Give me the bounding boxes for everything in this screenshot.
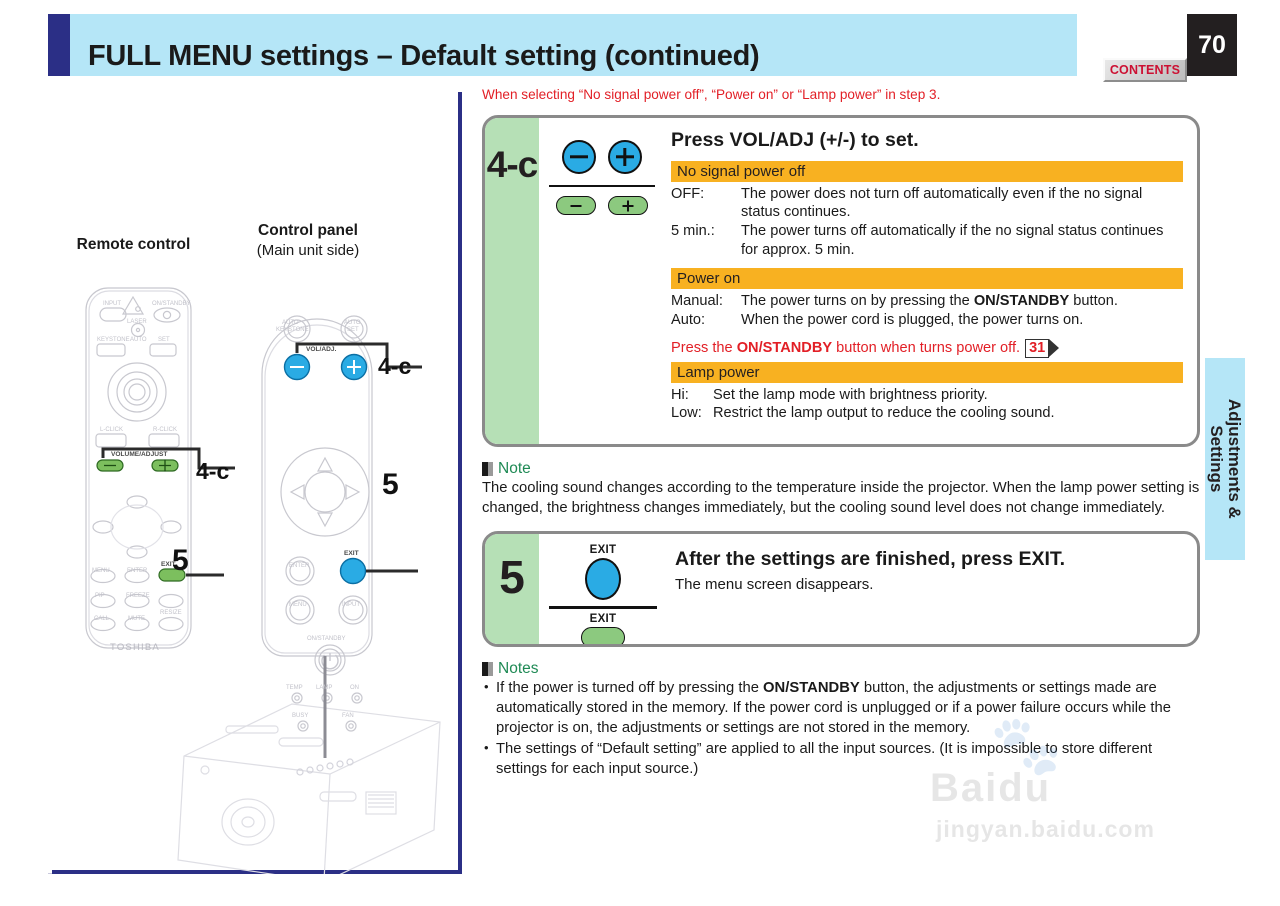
term: Low: bbox=[671, 404, 713, 423]
definition-row: OFF: The power does not turn off automat… bbox=[671, 185, 1183, 222]
power-off-reference-line: Press the ON/STANDBY button when turns p… bbox=[671, 339, 1183, 358]
panel-bottom-rule bbox=[52, 870, 462, 874]
page-number-box: 70 bbox=[1187, 14, 1237, 76]
list-item: The settings of “Default setting” are ap… bbox=[482, 740, 1202, 779]
step-4c-key-graphics bbox=[547, 140, 657, 216]
note-text: The cooling sound changes according to t… bbox=[482, 479, 1202, 518]
note-block-1: Note The cooling sound changes according… bbox=[482, 460, 1202, 518]
exit-pill-icon[interactable] bbox=[581, 627, 625, 648]
term: Auto: bbox=[671, 311, 741, 330]
description: The power turns off automatically if the… bbox=[741, 222, 1183, 259]
intro-text: When selecting “No signal power off”, “P… bbox=[482, 86, 1202, 104]
no-signal-power-off-definitions: OFF: The power does not turn off automat… bbox=[671, 185, 1183, 260]
note-heading: Note bbox=[482, 460, 1202, 478]
section-tab-adjustments-settings: Adjustments & Settings bbox=[1205, 358, 1245, 560]
section-tab-line2: Settings bbox=[1207, 425, 1226, 492]
list-item: If the power is turned off by pressing t… bbox=[482, 679, 1202, 738]
section-tab-label: Adjustments & Settings bbox=[1207, 399, 1243, 519]
section-header-no-signal-power-off: No signal power off bbox=[671, 161, 1183, 182]
term: 5 min.: bbox=[671, 222, 741, 259]
definition-row: 5 min.: The power turns off automaticall… bbox=[671, 222, 1183, 259]
callout-remote-exit: 5 bbox=[172, 544, 189, 578]
step-5-key-graphics: EXIT EXIT bbox=[547, 544, 659, 647]
key-divider bbox=[549, 185, 655, 188]
notes-heading: Notes bbox=[482, 660, 1202, 678]
step-5-box: 5 EXIT EXIT After the settings are finis… bbox=[482, 531, 1200, 647]
step-4c-heading: Press VOL/ADJ (+/-) to set. bbox=[671, 129, 1183, 152]
header-accent-block bbox=[48, 14, 70, 76]
definition-row: Auto: When the power cord is plugged, th… bbox=[671, 311, 1183, 330]
callout-panel-exit: 5 bbox=[382, 468, 399, 502]
notes-flag-icon bbox=[482, 662, 493, 676]
vol-minus-circle-icon[interactable] bbox=[562, 140, 596, 174]
page-reference-arrow-icon bbox=[1049, 339, 1059, 357]
exit-oval-icon[interactable] bbox=[585, 558, 621, 600]
step-5-number: 5 bbox=[485, 550, 539, 604]
control-panel-label-main: Control panel bbox=[232, 222, 384, 240]
step-4c-number: 4-c bbox=[485, 144, 539, 186]
step-4c-content: Press VOL/ADJ (+/-) to set. No signal po… bbox=[671, 118, 1197, 444]
vol-plus-circle-icon[interactable] bbox=[608, 140, 642, 174]
section-header-power-on: Power on bbox=[671, 268, 1183, 289]
description: When the power cord is plugged, the powe… bbox=[741, 311, 1183, 330]
notes-list: If the power is turned off by pressing t… bbox=[482, 679, 1202, 779]
key-divider bbox=[549, 606, 657, 609]
control-panel-label: Control panel (Main unit side) bbox=[232, 222, 384, 259]
description: Set the lamp mode with brightness priori… bbox=[713, 386, 1183, 405]
page-number: 70 bbox=[1198, 31, 1226, 60]
remote-control-label: Remote control bbox=[66, 236, 201, 254]
power-off-text: Press the ON/STANDBY button when turns p… bbox=[671, 340, 1020, 356]
panel-right-rule bbox=[458, 92, 462, 874]
section-header-lamp-power: Lamp power bbox=[671, 362, 1183, 383]
exit-caption-bottom: EXIT bbox=[547, 613, 659, 625]
control-panel-label-sub: (Main unit side) bbox=[232, 242, 384, 259]
watermark-url: jingyan.baidu.com bbox=[936, 816, 1155, 843]
vol-minus-pill-icon[interactable] bbox=[556, 196, 596, 215]
section-tab-line1: Adjustments & bbox=[1225, 399, 1244, 519]
note-flag-icon bbox=[482, 462, 493, 476]
vol-plus-pill-icon[interactable] bbox=[608, 196, 648, 215]
page-header: FULL MENU settings – Default setting (co… bbox=[0, 14, 1280, 76]
instructions-column: When selecting “No signal power off”, “P… bbox=[482, 86, 1202, 782]
control-panel-keys-row bbox=[547, 140, 657, 174]
step-5-heading: After the settings are finished, press E… bbox=[675, 548, 1197, 571]
definition-row: Low: Restrict the lamp output to reduce … bbox=[671, 404, 1183, 423]
contents-button[interactable]: CONTENTS bbox=[1103, 58, 1187, 82]
definition-row: Manual: The power turns on by pressing t… bbox=[671, 292, 1183, 311]
exit-caption-top: EXIT bbox=[547, 544, 659, 556]
step-5-subtext: The menu screen disappears. bbox=[675, 576, 1197, 593]
contents-button-label: CONTENTS bbox=[1110, 63, 1180, 77]
step-4c-box: 4-c Press VOL/ADJ (+/-) to set. No signa… bbox=[482, 115, 1200, 447]
remote-keys-row bbox=[547, 196, 657, 215]
power-on-definitions: Manual: The power turns on by pressing t… bbox=[671, 292, 1183, 329]
lamp-power-definitions: Hi: Set the lamp mode with brightness pr… bbox=[671, 386, 1183, 423]
note-block-2: Notes If the power is turned off by pres… bbox=[482, 660, 1202, 779]
term: Hi: bbox=[671, 386, 713, 405]
definition-row: Hi: Set the lamp mode with brightness pr… bbox=[671, 386, 1183, 405]
page-reference-31[interactable]: 31 bbox=[1025, 339, 1059, 358]
page-reference-number: 31 bbox=[1025, 339, 1049, 358]
description: Restrict the lamp output to reduce the c… bbox=[713, 404, 1183, 423]
callout-panel-volume: 4-c bbox=[378, 353, 411, 380]
page-title: FULL MENU settings – Default setting (co… bbox=[88, 40, 759, 73]
illustration-panel bbox=[48, 92, 462, 874]
description: The power does not turn off automaticall… bbox=[741, 185, 1183, 222]
step-5-content: After the settings are finished, press E… bbox=[675, 534, 1197, 593]
description: The power turns on by pressing the ON/ST… bbox=[741, 292, 1183, 311]
callout-remote-volume: 4-c bbox=[196, 458, 229, 485]
note-title: Note bbox=[498, 460, 531, 478]
term: Manual: bbox=[671, 292, 741, 311]
notes-title: Notes bbox=[498, 660, 539, 678]
term: OFF: bbox=[671, 185, 741, 222]
